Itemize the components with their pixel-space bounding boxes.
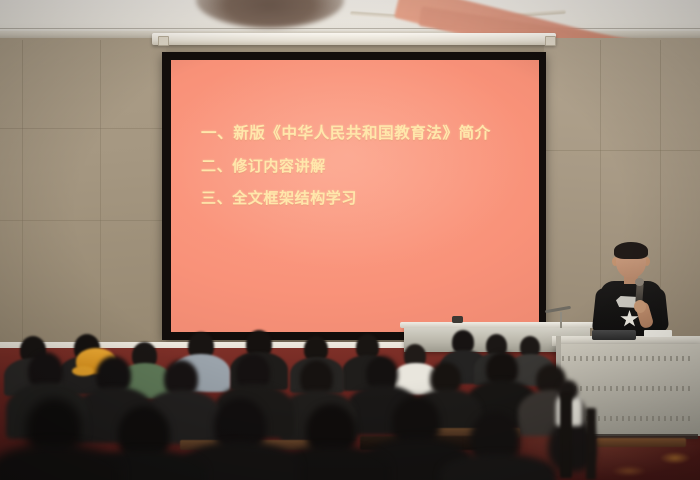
lectern-papers (644, 330, 672, 337)
lectern-vent (562, 356, 694, 361)
projection-screen-housing (152, 33, 556, 45)
slide-line-1: 一、新版《中华人民共和国教育法》简介 (201, 126, 525, 142)
chair-back (560, 392, 572, 478)
cap-brim (72, 366, 94, 376)
lectern-vent (562, 386, 694, 391)
back-wall-left-panel (0, 38, 166, 350)
microphone-stem (560, 312, 562, 328)
screen-bracket (545, 36, 556, 46)
wall-seam (546, 150, 700, 151)
wall-seam (0, 128, 162, 129)
floor-highlight (612, 466, 646, 476)
wall-seam (0, 220, 162, 221)
slide-content: 一、新版《中华人民共和国教育法》简介 二、修订内容讲解 三、全文框架结构学习 (201, 126, 525, 223)
screen-bracket (158, 36, 169, 46)
ceiling-wire (0, 28, 700, 29)
slide-line-2: 二、修订内容讲解 (201, 159, 525, 174)
wall-seam (22, 40, 23, 340)
lecture-hall-photo: 一、新版《中华人民共和国教育法》简介 二、修订内容讲解 三、全文框架结构学习 (0, 0, 700, 480)
microphone-capsule (635, 278, 644, 286)
presenter-hair (614, 242, 648, 259)
front-table-top (400, 322, 596, 328)
chair-back (586, 408, 596, 480)
desk-device (452, 316, 463, 323)
presenter-hand (634, 300, 646, 313)
lectern-monitor (592, 330, 636, 340)
floor-highlight (660, 452, 690, 464)
slide-line-3: 三、全文框架结构学习 (201, 191, 525, 206)
desk-row (596, 438, 686, 447)
projected-slide: 一、新版《中华人民共和国教育法》简介 二、修订内容讲解 三、全文框架结构学习 (171, 60, 539, 332)
wall-seam (100, 40, 101, 340)
